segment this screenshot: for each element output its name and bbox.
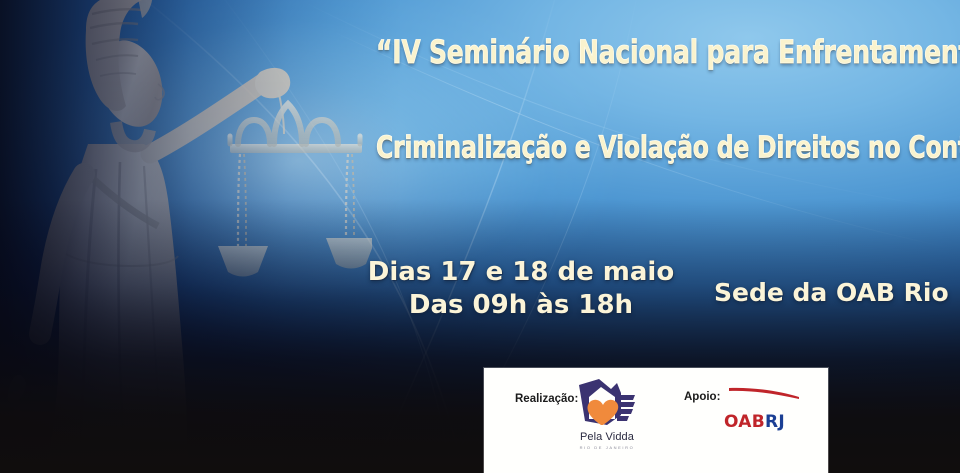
oabrj-swoosh-icon — [729, 386, 799, 399]
oabrj-logo-text: OABRJ — [724, 412, 785, 432]
event-banner: “IV Seminário Nacional para Enfrentament… — [0, 0, 960, 473]
oabrj-rj-text: RJ — [765, 412, 785, 432]
event-days: Dias 17 e 18 de maio — [356, 256, 686, 289]
sponsor-panel: Realização: Pela Vidda RIO DE JANE — [484, 368, 828, 473]
event-venue: Sede da OAB Rio — [714, 278, 949, 307]
title-line-1: “IV Seminário Nacional para Enfrentament… — [376, 36, 944, 70]
oabrj-oab-text: OAB — [724, 412, 765, 432]
pela-vidda-name: Pela Vidda — [568, 431, 646, 443]
pela-vidda-subtitle: RIO DE JANEIRO — [568, 445, 646, 450]
realizacao-label: Realização: — [515, 393, 578, 405]
event-hours: Das 09h às 18h — [356, 289, 686, 322]
banner-title: “IV Seminário Nacional para Enfrentament… — [376, 36, 944, 157]
apoio-label: Apoio: — [684, 391, 720, 403]
event-schedule: Dias 17 e 18 de maio Das 09h às 18h — [356, 256, 686, 323]
title-line-2: Criminalização e Violação de Direitos no… — [376, 132, 944, 164]
